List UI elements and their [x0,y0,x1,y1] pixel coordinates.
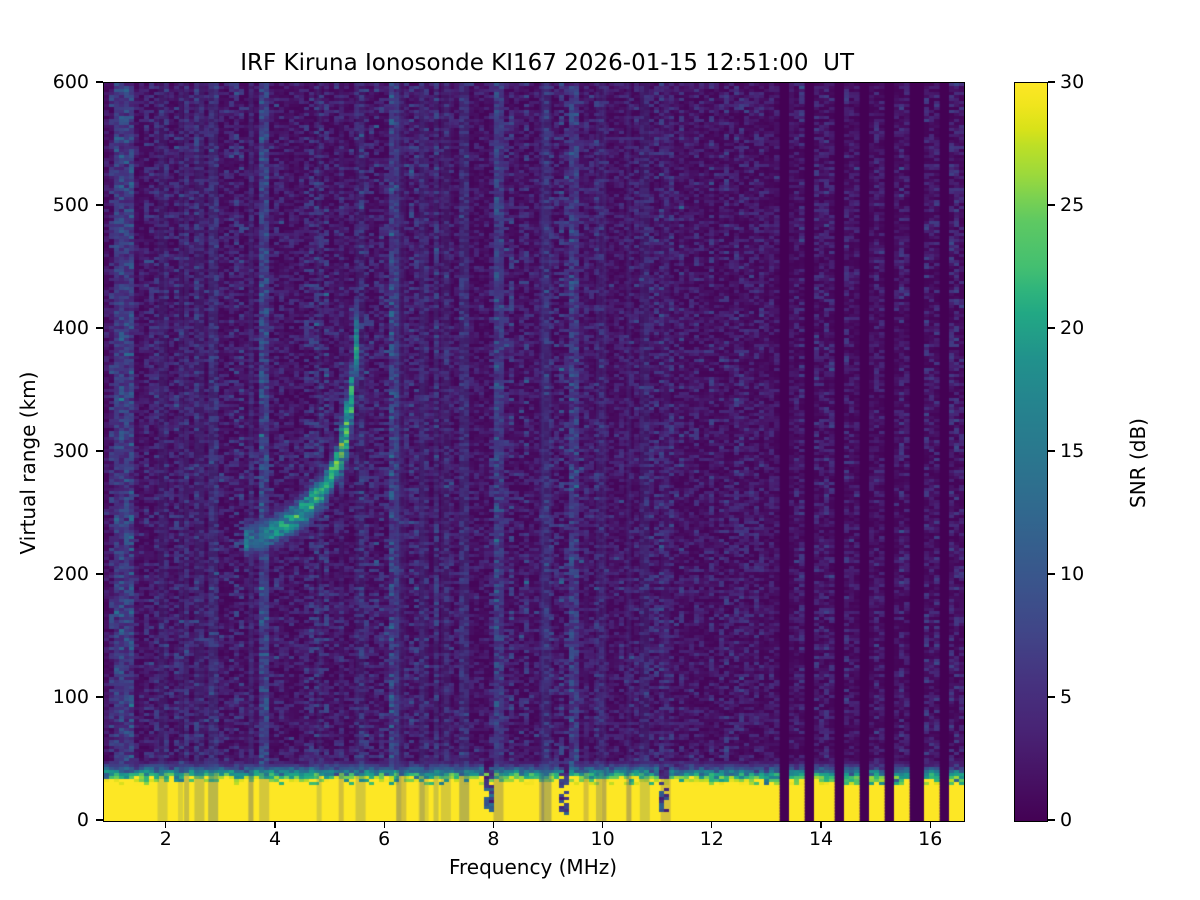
colorbar-tick-label: 0 [1060,809,1072,831]
y-tick-mark [96,204,103,205]
y-tick-mark [96,819,103,820]
colorbar-label: SNR (dB) [1126,273,1150,653]
colorbar [1014,82,1048,822]
y-tick-mark [96,450,103,451]
colorbar-tick-mark [1048,327,1055,328]
y-tick-mark [96,327,103,328]
colorbar-tick-label: 20 [1060,317,1084,339]
x-tick-label: 14 [809,828,833,850]
colorbar-tick-mark [1048,450,1055,451]
x-tick-mark [711,821,712,828]
y-tick-label: 300 [53,440,89,462]
x-tick-mark [165,821,166,828]
y-tick-mark [96,81,103,82]
y-tick-label: 600 [53,71,89,93]
x-tick-label: 8 [487,828,499,850]
x-tick-mark [602,821,603,828]
colorbar-tick-mark [1048,696,1055,697]
colorbar-tick-label: 30 [1060,71,1084,93]
x-tick-label: 6 [378,828,390,850]
colorbar-tick-label: 5 [1060,686,1072,708]
colorbar-tick-mark [1048,81,1055,82]
colorbar-tick-mark [1048,573,1055,574]
y-tick-label: 400 [53,317,89,339]
x-tick-mark [384,821,385,828]
colorbar-tick-label: 25 [1060,194,1084,216]
x-tick-label: 10 [591,828,615,850]
y-tick-label: 0 [77,809,89,831]
colorbar-tick-label: 15 [1060,440,1084,462]
x-tick-mark [820,821,821,828]
y-tick-label: 100 [53,686,89,708]
y-tick-label: 200 [53,563,89,585]
y-axis-ticks: 0100200300400500600 [0,0,89,900]
ionogram-figure: IRF Kiruna Ionosonde KI167 2026-01-15 12… [0,0,1200,900]
title-line-1: IRF Kiruna Ionosonde KI167 2026-01-15 12… [240,50,854,76]
colorbar-tick-mark [1048,819,1055,820]
y-tick-mark [96,573,103,574]
x-tick-mark [930,821,931,828]
x-axis-label: Frequency (MHz) [103,855,963,879]
ionogram-heatmap [104,83,964,821]
y-axis-label: Virtual range (km) [16,203,40,723]
colorbar-tick-label: 10 [1060,563,1084,585]
plot-axes [103,82,965,822]
x-tick-label: 4 [269,828,281,850]
y-tick-label: 500 [53,194,89,216]
x-tick-label: 2 [160,828,172,850]
y-tick-mark [96,696,103,697]
x-tick-mark [274,821,275,828]
x-tick-label: 16 [918,828,942,850]
colorbar-tick-mark [1048,204,1055,205]
x-tick-mark [493,821,494,828]
x-tick-label: 12 [700,828,724,850]
